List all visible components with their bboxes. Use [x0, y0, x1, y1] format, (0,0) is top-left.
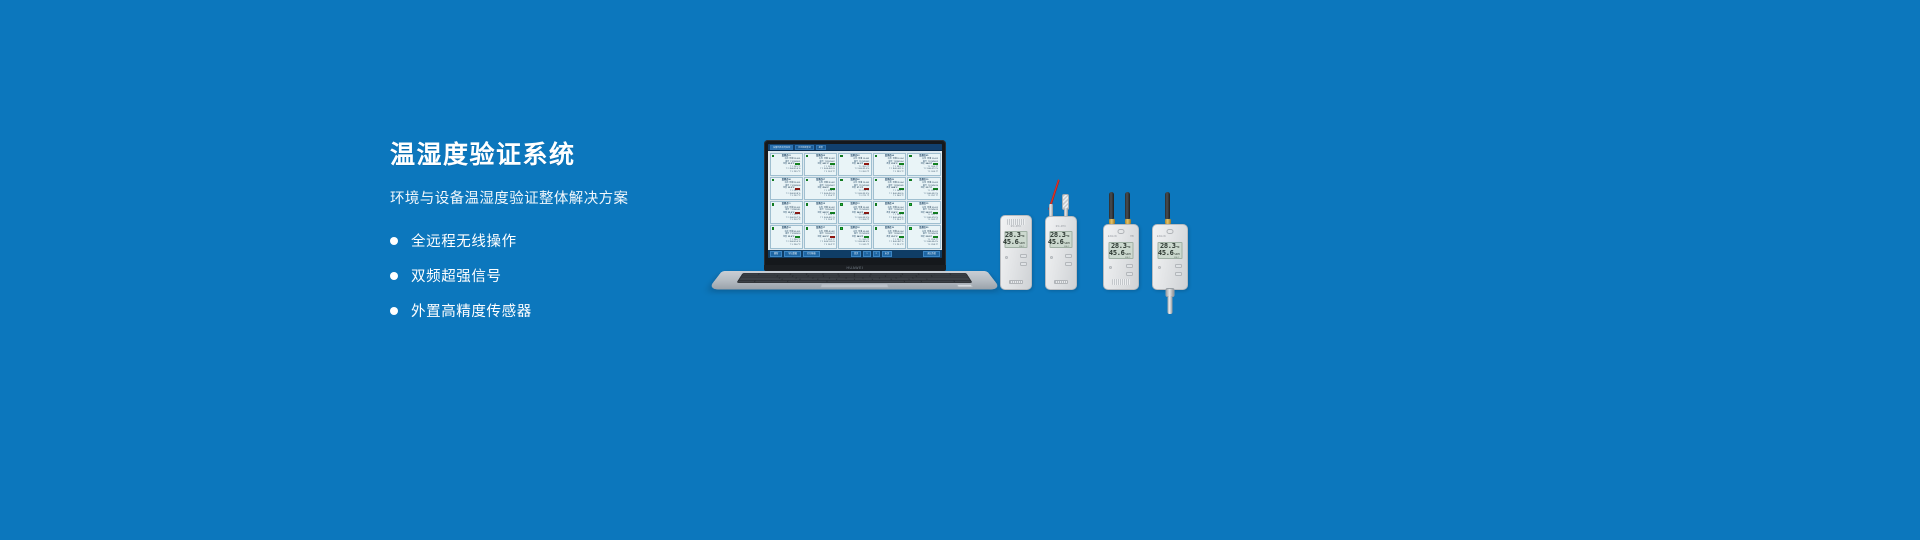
sensor-t2-label: T 2	[786, 168, 789, 171]
hanging-hole-icon	[1167, 229, 1174, 234]
device-body: RC-4HC 28.3 ℃ 45.6 %RH REC	[1000, 215, 1032, 290]
lcd-humidity-value: 45.6	[1048, 239, 1064, 246]
sensor-temp-label: 温度	[921, 187, 925, 190]
sensor-card[interactable]: 监测点16名称环境 4F-001编号T12345016温度23.6℃T 123.…	[770, 225, 803, 248]
sensor-temp-label: 温度	[886, 187, 890, 190]
refresh-button[interactable]: 刷新	[770, 251, 782, 257]
antenna-right-icon	[1125, 192, 1130, 220]
sensor-card[interactable]: 监测点09名称环境 2F-004编号T12345009温度24.8℃T 124.…	[873, 177, 906, 200]
sensor-card[interactable]: 监测点03名称环境 1F-003编号T12345003温度26.3℃T 126.…	[838, 153, 871, 176]
device-led-indicator	[1109, 266, 1112, 269]
device-led-indicator	[1158, 266, 1161, 269]
sensor-vent-icon	[1112, 279, 1130, 285]
feature-label: 全远程无线操作	[411, 230, 517, 251]
sensor-t3: T 324.8 ℃	[875, 195, 903, 198]
list-item: 外置高精度传感器	[390, 300, 750, 321]
lcd-humidity-row: 45.6 %RH	[1003, 239, 1025, 246]
status-led-icon	[875, 155, 878, 158]
sensor-t2-label: T 2	[820, 241, 823, 244]
bullet-dot-icon	[390, 272, 398, 280]
sensor-t3-label: T 3	[859, 244, 862, 247]
device-button-up[interactable]	[1020, 254, 1027, 258]
sensor-t3-label: T 3	[790, 219, 793, 222]
status-led-icon	[772, 179, 775, 182]
sensor-t2-label: T 2	[786, 217, 789, 220]
status-led-icon	[772, 155, 775, 158]
sensor-t3: T 323.7 ℃	[910, 195, 938, 198]
sensor-temp-label: 温度	[783, 187, 787, 190]
sensor-t2-label: T 2	[855, 193, 858, 196]
bullet-dot-icon	[390, 307, 398, 315]
sensor-temp-label: 温度	[783, 236, 787, 239]
status-led-icon	[909, 179, 912, 182]
device-model-label: ENGIN	[1153, 236, 1187, 238]
status-led-icon	[806, 227, 809, 230]
sensor-t3: T 324.5 ℃	[841, 244, 869, 247]
sensor-temp-label: 温度	[921, 212, 925, 215]
sensor-card[interactable]: 监测点19名称环境 4F-004编号T12345019温度25.1℃T 125.…	[873, 225, 906, 248]
device-lineup: RC-4HC 28.3 ℃ 45.6 %RH REC	[1000, 180, 1220, 320]
sensor-card[interactable]: 监测点17名称环境 4F-002编号T12345017温度26.2℃T 126.…	[804, 225, 837, 248]
export-button[interactable]: 导出数据	[784, 251, 801, 257]
pager-last[interactable]: 末页	[882, 251, 892, 257]
device-logger-wireless-dual[interactable]: ENGIN HB 28.3 ℃ 45.6 %RH REC	[1103, 192, 1139, 290]
device-logger-external-probe[interactable]: RC-4HC 28.3 ℃ 45.6 %RH REC	[1045, 208, 1077, 290]
key	[771, 281, 787, 282]
sensor-t3-label: T 3	[859, 219, 862, 222]
device-body: ENGIN 28.3 ℃ 45.6 %RH REC	[1152, 224, 1188, 290]
device-grille-icon	[1054, 280, 1068, 284]
feature-list: 全远程无线操作 双频超强信号 外置高精度传感器	[390, 230, 750, 321]
sensor-temp-label: 温度	[817, 236, 821, 239]
print-button[interactable]: 打印报表	[803, 251, 820, 257]
sensor-t2-label: T 2	[786, 241, 789, 244]
sensor-temp-label: 温度	[783, 212, 787, 215]
laptop-illustration: 设备列表/实时监控 历史数据查询 报警 监测点01名称环境 1F-001编号T1…	[722, 140, 987, 300]
app-footer-toolbar: 刷新 导出数据 打印报表 首页 1 2 末页 退出系统	[768, 250, 942, 258]
sensor-t3-label: T 3	[790, 171, 793, 174]
device-lcd-display: 28.3 ℃ 45.6 %RH REC	[1158, 242, 1183, 259]
sensor-t3: T 324.6 ℃	[910, 171, 938, 174]
key	[938, 281, 955, 282]
sensor-t3-label: T 3	[893, 195, 896, 198]
sensor-t3-value: 24.9 ℃	[931, 219, 938, 222]
sensor-t3-value: 23.5 ℃	[794, 171, 801, 174]
hanging-hole-icon	[1118, 229, 1125, 234]
sensor-t3: T 326.8 ℃	[841, 219, 869, 222]
sensor-t2-label: T 2	[820, 217, 823, 220]
sensor-t3-label: T 3	[927, 195, 930, 198]
lcd-humidity-value: 45.6	[1158, 250, 1174, 257]
sensor-t3-value: 26.3 ℃	[862, 171, 869, 174]
sensor-t2-label: T 2	[923, 168, 926, 171]
sensor-t3: T 324.9 ℃	[910, 219, 938, 222]
sensor-t2-label: T 2	[923, 241, 926, 244]
sensor-t3: T 323.5 ℃	[772, 171, 800, 174]
lcd-humidity-unit: %RH	[1019, 242, 1024, 245]
sensor-card[interactable]: 监测点07名称环境 2F-002编号T12345007温度25.4℃T 125.…	[804, 177, 837, 200]
hero-banner: 温湿度验证系统 环境与设备温湿度验证整体解决方案 全远程无线操作 双频超强信号 …	[0, 0, 1920, 540]
device-model-label-secondary: HB	[1104, 236, 1138, 238]
sensor-t3-label: T 3	[859, 171, 862, 174]
sensor-card[interactable]: 监测点14名称环境 3F-004编号T12345014温度23.4℃T 123.…	[873, 201, 906, 224]
device-led-indicator	[1005, 256, 1008, 259]
sensor-t3-value: 24.5 ℃	[862, 244, 869, 247]
sensor-t3-label: T 3	[927, 171, 930, 174]
sensor-t3: T 324.3 ℃	[806, 219, 834, 222]
sensor-temp-label: 温度	[783, 163, 787, 166]
device-button-up[interactable]	[1065, 254, 1072, 258]
sensor-t2-label: T 2	[786, 193, 789, 196]
device-grille-icon	[1009, 280, 1023, 284]
status-led-icon	[840, 227, 843, 230]
sensor-t3-value: 24.3 ℃	[828, 219, 835, 222]
toolbar-spacer	[822, 251, 849, 257]
sensor-t3-value: 23.4 ℃	[897, 219, 904, 222]
sensor-t2-label: T 2	[889, 168, 892, 171]
sensor-card[interactable]: 监测点10名称环境 2F-005编号T12345010温度23.7℃T 123.…	[907, 177, 940, 200]
sensor-t3-value: 27.1 ℃	[862, 195, 869, 198]
sensor-t3-label: T 3	[824, 171, 827, 174]
feature-label: 外置高精度传感器	[411, 300, 532, 321]
device-lcd-display: 28.3 ℃ 45.6 %RH REC	[1109, 242, 1134, 259]
tab-history[interactable]: 历史数据查询	[795, 145, 813, 150]
bullet-dot-icon	[390, 237, 398, 245]
sensor-t3: T 323.8 ℃	[910, 244, 938, 247]
status-led-icon	[909, 203, 912, 206]
sensor-t3: T 325.1 ℃	[875, 244, 903, 247]
sensor-card[interactable]: 监测点15名称环境 3F-005编号T12345015温度24.9℃T 124.…	[907, 201, 940, 224]
device-button-down[interactable]	[1175, 272, 1182, 276]
device-model-label: RC-4HC	[1001, 226, 1031, 228]
laptop-lid: 设备列表/实时监控 历史数据查询 报警 监测点01名称环境 1F-001编号T1…	[764, 140, 946, 267]
sensor-t3-value: 23.6 ℃	[794, 244, 801, 247]
sensor-t2-label: T 2	[820, 193, 823, 196]
sensor-t3-label: T 3	[824, 219, 827, 222]
sensor-temp-label: 温度	[921, 163, 925, 166]
lcd-humidity-value: 45.6	[1003, 239, 1019, 246]
device-body: ENGIN HB 28.3 ℃ 45.6 %RH REC	[1103, 224, 1139, 290]
sensor-temp-label: 温度	[886, 212, 890, 215]
sensor-t3-label: T 3	[893, 244, 896, 247]
keyboard-row	[738, 281, 971, 282]
sensor-t3-value: 24.8 ℃	[897, 195, 904, 198]
pager-page-1[interactable]: 1	[863, 251, 870, 257]
sensor-t3-value: 23.8 ℃	[931, 244, 938, 247]
sensor-t3-value: 25.1 ℃	[897, 244, 904, 247]
sensor-t2-label: T 2	[923, 193, 926, 196]
hero-copy: 温湿度验证系统 环境与设备温湿度验证整体解决方案 全远程无线操作 双频超强信号 …	[390, 140, 750, 335]
antenna-icon	[1165, 192, 1170, 220]
sensor-t3-label: T 3	[859, 195, 862, 198]
sensor-card[interactable]: 监测点12名称环境 3F-002编号T12345012温度24.3℃T 124.…	[804, 201, 837, 224]
status-led-icon	[875, 203, 878, 206]
lcd-temperature-unit: ℃	[1021, 235, 1024, 238]
pager-page-2[interactable]: 2	[873, 251, 880, 257]
status-led-icon	[909, 227, 912, 230]
device-logger-wireless-probe[interactable]: ENGIN 28.3 ℃ 45.6 %RH REC	[1152, 192, 1188, 290]
sensor-temp-label: 温度	[852, 212, 856, 215]
sensor-t3-value: 24.1 ℃	[828, 171, 835, 174]
device-led-indicator	[1050, 256, 1053, 259]
sensor-t3: T 323.9 ℃	[875, 171, 903, 174]
sensor-t3-label: T 3	[824, 195, 827, 198]
status-led-icon	[806, 179, 809, 182]
hero-subtitle: 环境与设备温湿度验证整体解决方案	[390, 187, 750, 208]
bottom-probe-icon	[1168, 296, 1173, 314]
sensor-card[interactable]: 监测点01名称环境 1F-001编号T12345001温度23.5℃T 123.…	[770, 153, 803, 176]
sensor-t3: T 323.6 ℃	[772, 244, 800, 247]
laptop-trackpad[interactable]	[820, 284, 889, 288]
device-lcd-display: 28.3 ℃ 45.6 %RH REC	[1005, 231, 1028, 248]
list-item: 双频超强信号	[390, 265, 750, 286]
lcd-rec-indicator: REC	[1174, 257, 1179, 259]
device-button-up[interactable]	[1175, 264, 1182, 268]
sensor-t3-label: T 3	[927, 244, 930, 247]
device-button-down[interactable]	[1065, 262, 1072, 266]
sensor-t2-label: T 2	[855, 168, 858, 171]
sensor-t3: T 327.1 ℃	[841, 195, 869, 198]
status-led-icon	[806, 203, 809, 206]
sensor-card[interactable]: 监测点13名称环境 3F-003编号T12345013温度26.8℃T 126.…	[838, 201, 871, 224]
lcd-temperature-unit: ℃	[1176, 246, 1179, 249]
sensor-card[interactable]: 监测点08名称环境 2F-003编号T12345008温度27.1℃T 127.…	[838, 177, 871, 200]
sensor-t3-value: 24.6 ℃	[931, 171, 938, 174]
key	[954, 281, 971, 282]
sensor-t3-label: T 3	[893, 171, 896, 174]
sensor-card-grid: 监测点01名称环境 1F-001编号T12345001温度23.5℃T 123.…	[768, 151, 942, 250]
sensor-t3: T 325.4 ℃	[806, 195, 834, 198]
status-led-icon	[840, 203, 843, 206]
sensor-card[interactable]: 监测点04名称环境 1F-004编号T12345004温度23.9℃T 123.…	[873, 153, 906, 176]
lcd-rec-indicator: REC	[1064, 246, 1069, 248]
lcd-temperature-unit: ℃	[1066, 235, 1069, 238]
lcd-humidity-unit: %RH	[1125, 253, 1130, 256]
lcd-humidity-value: 45.6	[1109, 250, 1125, 257]
laptop-screen: 设备列表/实时监控 历史数据查询 报警 监测点01名称环境 1F-001编号T1…	[768, 144, 942, 258]
device-button-down[interactable]	[1020, 262, 1027, 266]
status-led-icon	[875, 227, 878, 230]
sensor-t3-label: T 3	[824, 244, 827, 247]
key	[866, 281, 904, 282]
sensor-t2-label: T 2	[889, 217, 892, 220]
laptop-base	[708, 271, 1001, 289]
sensor-card[interactable]: 监测点05名称环境 1F-005编号T12345005温度24.6℃T 124.…	[907, 153, 940, 176]
status-led-icon	[840, 155, 843, 158]
app-tab-bar: 设备列表/实时监控 历史数据查询 报警	[768, 144, 942, 151]
key	[921, 281, 937, 282]
device-model-label: RC-4HC	[1046, 226, 1076, 228]
sensor-temp-label: 温度	[852, 163, 856, 166]
status-led-icon	[909, 155, 912, 158]
sensor-temp-label: 温度	[817, 212, 821, 215]
sensor-temp-label: 温度	[817, 163, 821, 166]
list-item: 全远程无线操作	[390, 230, 750, 251]
sensor-t3: T 326.3 ℃	[841, 171, 869, 174]
status-led-icon	[772, 227, 775, 230]
sensor-temp-label: 温度	[852, 236, 856, 239]
device-button-down[interactable]	[1126, 272, 1133, 276]
sensor-t3-label: T 3	[790, 195, 793, 198]
sensor-t3-value: 25.9 ℃	[794, 219, 801, 222]
sensor-card[interactable]: 监测点11名称环境 3F-001编号T12345011温度25.9℃T 125.…	[770, 201, 803, 224]
sensor-temp-label: 温度	[886, 163, 890, 166]
pager-first[interactable]: 首页	[851, 251, 861, 257]
lcd-rec-indicator: REC	[1125, 257, 1130, 259]
sensor-t2-label: T 2	[889, 241, 892, 244]
sensor-t3-value: 26.2 ℃	[828, 244, 835, 247]
sensor-t2-label: T 2	[855, 217, 858, 220]
sensor-t2-label: T 2	[820, 168, 823, 171]
sensor-t2-label: T 2	[889, 193, 892, 196]
lcd-humidity-unit: %RH	[1174, 253, 1179, 256]
sensor-t3-value: 26.8 ℃	[862, 219, 869, 222]
laptop-keyboard[interactable]	[736, 273, 972, 283]
lcd-humidity-unit: %RH	[1064, 242, 1069, 245]
device-logger-basic[interactable]: RC-4HC 28.3 ℃ 45.6 %RH REC	[1000, 215, 1032, 290]
feature-label: 双频超强信号	[411, 265, 502, 286]
sensor-t3: T 324.1 ℃	[806, 171, 834, 174]
sensor-temp-label: 温度	[817, 187, 821, 190]
sensor-card[interactable]: 监测点02名称环境 1F-002编号T12345002温度24.1℃T 124.…	[804, 153, 837, 176]
device-body: RC-4HC 28.3 ℃ 45.6 %RH REC	[1045, 216, 1077, 290]
sensor-t3-value: 23.2 ℃	[794, 195, 801, 198]
sensor-t3-value: 23.9 ℃	[897, 171, 904, 174]
sensor-t3: T 325.9 ℃	[772, 219, 800, 222]
status-led-icon	[840, 179, 843, 182]
sensor-temp-label: 温度	[886, 236, 890, 239]
sensor-card[interactable]: 监测点06名称环境 2F-001编号T12345006温度23.2℃T 123.…	[770, 177, 803, 200]
key	[788, 281, 826, 282]
status-led-icon	[772, 203, 775, 206]
status-led-icon	[806, 155, 809, 158]
lcd-humidity-row: 45.6 %RH	[1109, 250, 1131, 257]
sensor-vent-icon	[1007, 219, 1025, 225]
key	[738, 281, 755, 282]
status-led-icon	[875, 179, 878, 182]
sensor-t2-label: T 2	[855, 241, 858, 244]
key	[755, 281, 772, 282]
device-lcd-display: 28.3 ℃ 45.6 %RH REC	[1050, 231, 1073, 248]
tab-alarm[interactable]: 报警	[816, 145, 826, 150]
sensor-t3-value: 25.4 ℃	[828, 195, 835, 198]
toolbar-spacer	[894, 251, 921, 257]
sensor-card[interactable]: 监测点20名称环境 4F-005编号T12345020温度23.8℃T 123.…	[907, 225, 940, 248]
exit-button[interactable]: 退出系统	[923, 251, 940, 257]
sensor-t3: T 323.4 ℃	[875, 219, 903, 222]
page-title: 温湿度验证系统	[390, 140, 750, 170]
lcd-humidity-row: 45.6 %RH	[1158, 250, 1180, 257]
key	[827, 281, 865, 282]
sensor-t2-label: T 2	[923, 217, 926, 220]
antenna-left-icon	[1109, 192, 1114, 220]
sensor-t3-value: 23.7 ℃	[931, 195, 938, 198]
sensor-card[interactable]: 监测点18名称环境 4F-003编号T12345018温度24.5℃T 124.…	[838, 225, 871, 248]
sensor-temp-label: 温度	[921, 236, 925, 239]
lcd-humidity-row: 45.6 %RH	[1048, 239, 1070, 246]
key	[905, 281, 921, 282]
sensor-t3: T 326.2 ℃	[806, 244, 834, 247]
sensor-temp-label: 温度	[852, 187, 856, 190]
device-button-up[interactable]	[1126, 264, 1133, 268]
sensor-t3: T 323.2 ℃	[772, 195, 800, 198]
tab-device-list[interactable]: 设备列表/实时监控	[770, 145, 793, 150]
laptop-power-area	[956, 284, 973, 287]
sensor-t3-label: T 3	[893, 219, 896, 222]
lcd-temperature-unit: ℃	[1127, 246, 1130, 249]
sensor-t3-label: T 3	[790, 244, 793, 247]
sensor-t3-label: T 3	[927, 219, 930, 222]
lcd-rec-indicator: REC	[1019, 246, 1024, 248]
